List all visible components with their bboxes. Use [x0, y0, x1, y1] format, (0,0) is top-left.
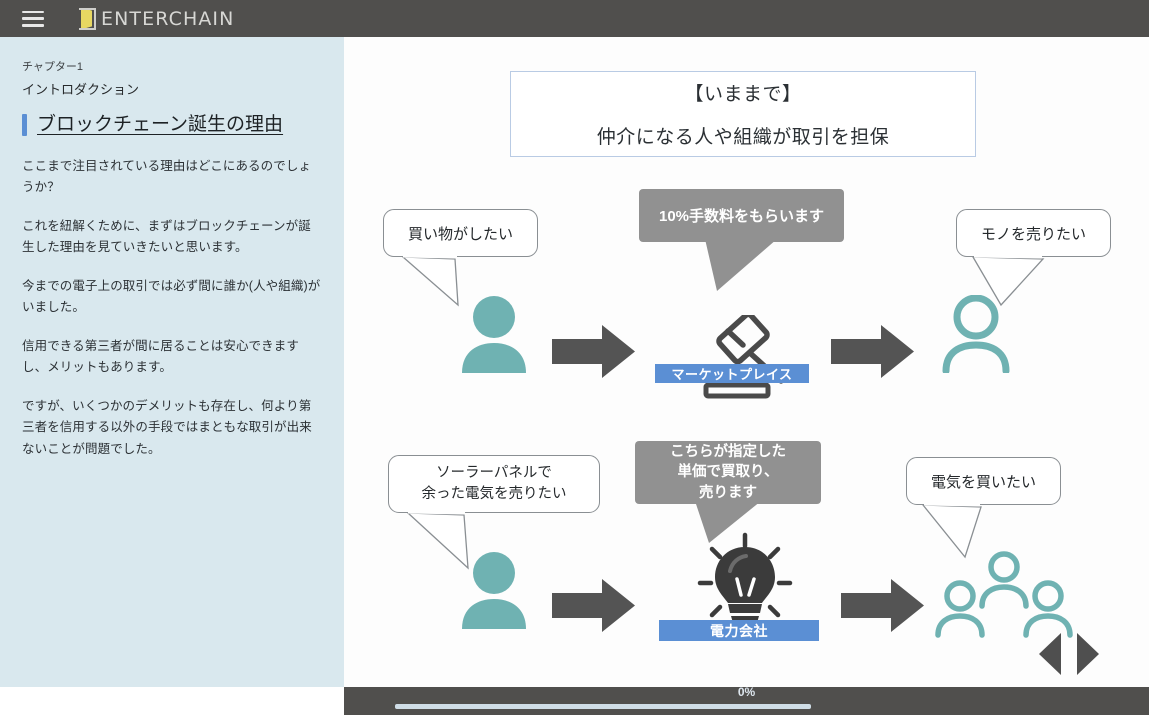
chapter-subtitle: イントロダクション [22, 80, 322, 100]
chip-text: 電力会社 [710, 621, 768, 641]
person-icon-seller-row2 [460, 551, 528, 634]
page-title: ブロックチェーン誕生の理由 [37, 113, 283, 138]
hamburger-line [22, 17, 44, 20]
bubble-text-line2: 単価で買取り、 [678, 462, 779, 482]
slide-header-line2: 仲介になる人や組織が取引を担保 [597, 122, 890, 149]
bubble-text-line1: こちらが指定した [670, 442, 786, 462]
label-marketplace: マーケットプレイス [655, 364, 809, 383]
sidebar-paragraph: 今までの電子上の取引では必ず間に誰か(人や組織)がいました。 [22, 276, 322, 319]
sidebar-paragraph: これを紐解くために、まずはブロックチェーンが誕生した理由を見ていきたいと思います… [22, 216, 322, 259]
bubble-text-line1: ソーラーパネルで [436, 463, 552, 484]
gavel-icon [688, 315, 796, 408]
bubble-buyer-row1: 買い物がしたい [383, 209, 538, 257]
bubble-text: 買い物がしたい [408, 223, 513, 244]
bubble-body: こちらが指定した 単価で買取り、 売ります [635, 441, 821, 504]
top-bar: ENTERCHAIN [0, 0, 1149, 37]
person-icon-seller-row1 [942, 295, 1010, 378]
bubble-text: 電気を買いたい [931, 471, 1036, 492]
app-root: ENTERCHAIN チャプター1 イントロダクション ブロックチェーン誕生の理… [0, 0, 1149, 715]
progress-footer: 0% [344, 687, 1149, 715]
hamburger-line [22, 24, 44, 27]
bubble-body: 10%手数料をもらいます [639, 189, 844, 242]
door-logo-icon [79, 8, 96, 30]
brand-text: ENTERCHAIN [101, 8, 234, 30]
slide-navigation [1039, 633, 1099, 675]
hamburger-line [22, 11, 44, 14]
triangle-right-icon[interactable] [1077, 633, 1099, 675]
triangle-left-icon[interactable] [1039, 633, 1061, 675]
accent-bar [22, 114, 27, 136]
sidebar-paragraph: ここまで注目されている理由はどこにあるのでしょうか？ [22, 156, 322, 199]
slide-header-line1: 【いままで】 [684, 79, 801, 106]
lesson-title-row: ブロックチェーン誕生の理由 [22, 113, 322, 138]
chip-text: マーケットプレイス [671, 364, 792, 383]
bubble-body: 買い物がしたい [383, 209, 538, 257]
bubble-broker-row1: 10%手数料をもらいます [639, 189, 844, 242]
bubble-text: 10%手数料をもらいます [659, 205, 824, 226]
bubble-text: モノを売りたい [981, 223, 1086, 244]
bubble-body: ソーラーパネルで 余った電気を売りたい [388, 455, 600, 513]
brand-logo[interactable]: ENTERCHAIN [79, 8, 234, 30]
progress-bar[interactable] [395, 704, 811, 709]
bubble-seller-row1: モノを売りたい [956, 209, 1111, 257]
lesson-sidebar: チャプター1 イントロダクション ブロックチェーン誕生の理由 ここまで注目されて… [0, 37, 344, 687]
bubble-tail [705, 239, 785, 295]
chapter-label: チャプター1 [22, 59, 322, 76]
bubble-text-line3: 売ります [699, 483, 757, 503]
arrow-right-icon [552, 579, 635, 637]
arrow-right-icon [841, 579, 924, 637]
door-frame [79, 8, 96, 30]
hamburger-icon[interactable] [22, 11, 44, 27]
slide-header-box: 【いままで】 仲介になる人や組織が取引を担保 [510, 71, 976, 157]
progress-label: 0% [344, 685, 1149, 699]
sidebar-paragraph: ですが、いくつかのデメリットも存在し、何より第三者を信用する以外の手段ではまとも… [22, 396, 322, 461]
bubble-seller-row2: ソーラーパネルで 余った電気を売りたい [388, 455, 600, 513]
arrow-right-icon [831, 325, 914, 383]
bubble-broker-row2: こちらが指定した 単価で買取り、 売ります [635, 441, 821, 504]
bubble-text-line2: 余った電気を売りたい [422, 484, 567, 505]
bubble-body: モノを売りたい [956, 209, 1111, 257]
sidebar-paragraph: 信用できる第三者が間に居ることは安心できますし、メリットもあります。 [22, 336, 322, 379]
slide-canvas: 【いままで】 仲介になる人や組織が取引を担保 買い物がしたい 10%手数料をもら… [344, 37, 1149, 687]
bubble-body: 電気を買いたい [906, 457, 1061, 505]
person-icon-buyer-row1 [460, 295, 528, 378]
bubble-buyer-row2: 電気を買いたい [906, 457, 1061, 505]
arrow-right-icon [552, 325, 635, 383]
label-power-company: 電力会社 [659, 620, 819, 641]
